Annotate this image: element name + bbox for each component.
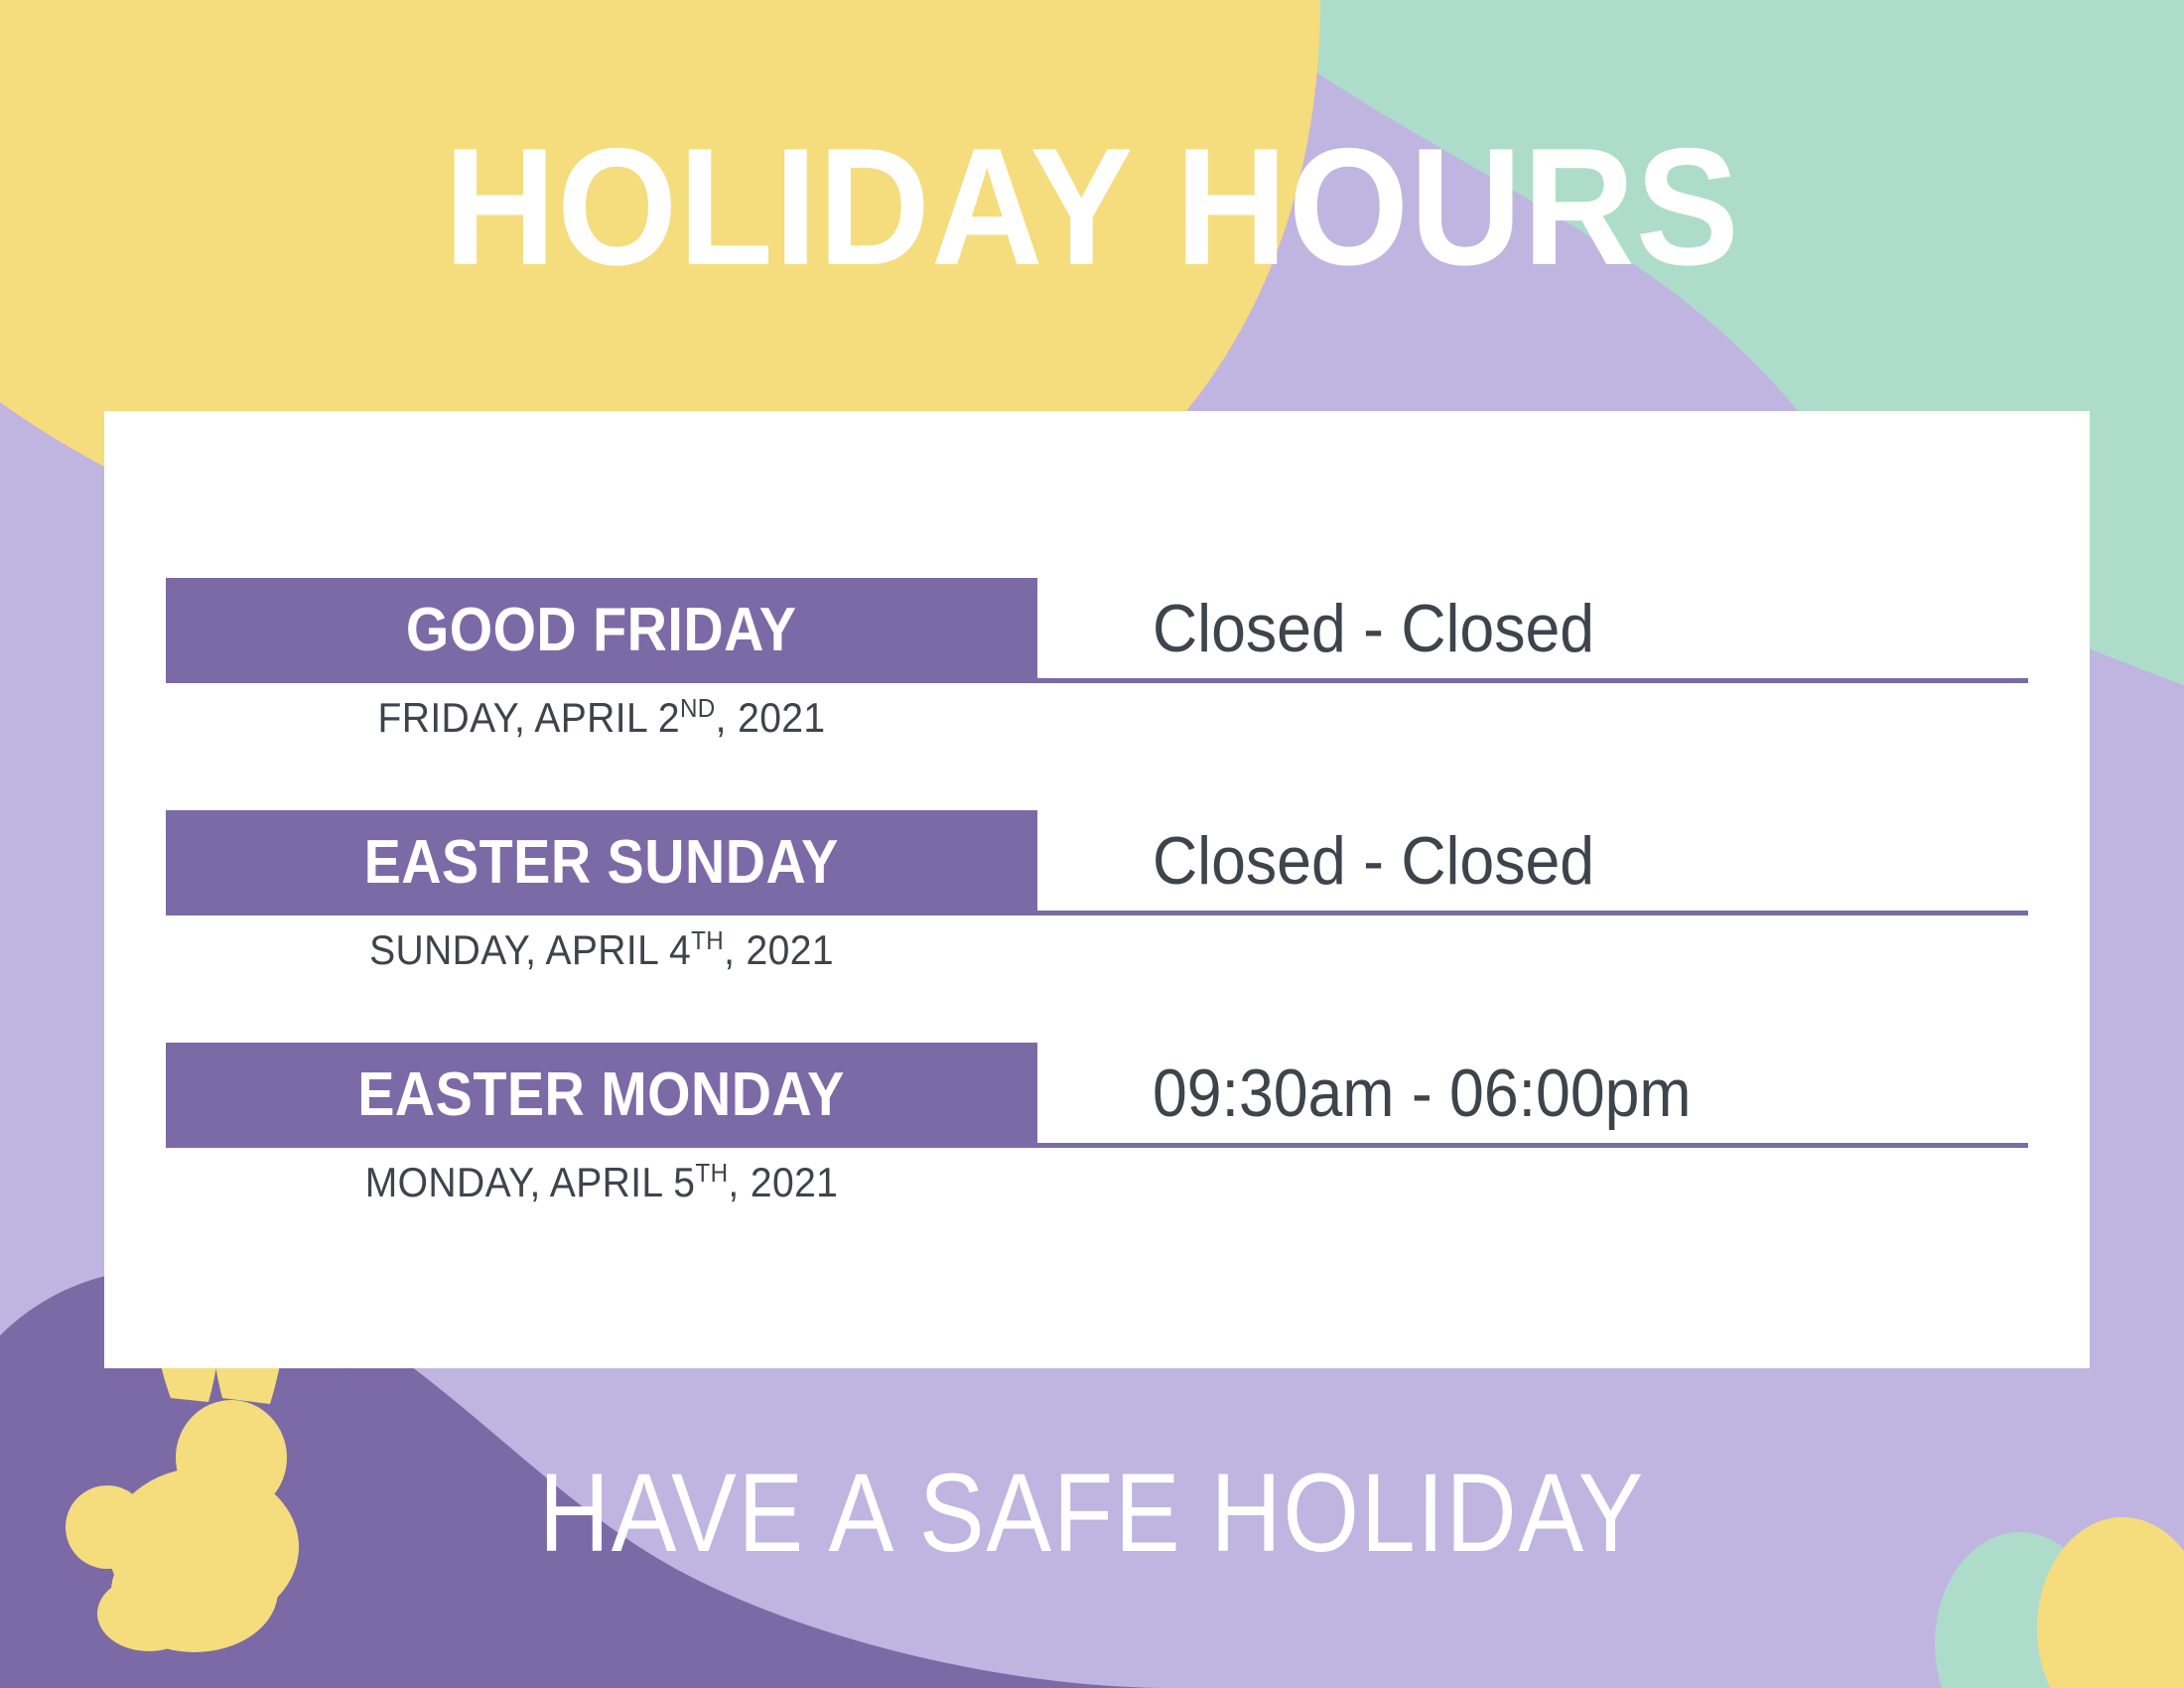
- hours-cell: Closed - Closed: [1037, 810, 2028, 915]
- hours-value: Closed - Closed: [1153, 595, 1594, 662]
- date-ordinal: ND: [680, 693, 716, 723]
- hours-value: Closed - Closed: [1153, 827, 1594, 895]
- date-prefix: SUNDAY, APRIL 4: [369, 926, 691, 973]
- date-ordinal: TH: [691, 925, 724, 955]
- holiday-name: EASTER MONDAY: [358, 1064, 846, 1126]
- date-prefix: MONDAY, APRIL 5: [365, 1159, 696, 1205]
- holiday-date: SUNDAY, APRIL 4TH, 2021: [197, 929, 1008, 971]
- schedule-card: GOOD FRIDAY Closed - Closed FRIDAY, APRI…: [104, 411, 2090, 1368]
- date-suffix: , 2021: [724, 926, 834, 973]
- schedule-row: EASTER SUNDAY Closed - Closed SUNDAY, AP…: [166, 806, 2028, 1039]
- hours-cell: 09:30am - 06:00pm: [1037, 1043, 2028, 1148]
- holiday-label-bar: GOOD FRIDAY: [166, 578, 1037, 683]
- schedule-row: GOOD FRIDAY Closed - Closed FRIDAY, APRI…: [166, 574, 2028, 806]
- holiday-name: EASTER SUNDAY: [364, 832, 839, 894]
- page-title: HOLIDAY HOURS: [76, 123, 2108, 290]
- date-suffix: , 2021: [716, 694, 826, 741]
- footer-message: HAVE A SAFE HOLIDAY: [131, 1458, 2053, 1569]
- poster-canvas: HOLIDAY HOURS GOOD FRIDAY Closed - Close…: [0, 0, 2184, 1688]
- holiday-date: MONDAY, APRIL 5TH, 2021: [197, 1162, 1008, 1203]
- schedule-row-top: GOOD FRIDAY Closed - Closed: [166, 574, 2028, 683]
- schedule-row-top: EASTER MONDAY 09:30am - 06:00pm: [166, 1039, 2028, 1148]
- holiday-name: GOOD FRIDAY: [406, 600, 797, 661]
- holiday-label-bar: EASTER SUNDAY: [166, 810, 1037, 915]
- date-prefix: FRIDAY, APRIL 2: [378, 694, 680, 741]
- date-suffix: , 2021: [728, 1159, 838, 1205]
- hours-cell: Closed - Closed: [1037, 578, 2028, 683]
- schedule-rows: GOOD FRIDAY Closed - Closed FRIDAY, APRI…: [166, 574, 2028, 1203]
- hours-value: 09:30am - 06:00pm: [1153, 1059, 1692, 1127]
- schedule-row-top: EASTER SUNDAY Closed - Closed: [166, 806, 2028, 915]
- schedule-row: EASTER MONDAY 09:30am - 06:00pm MONDAY, …: [166, 1039, 2028, 1203]
- holiday-date: FRIDAY, APRIL 2ND, 2021: [197, 697, 1008, 739]
- holiday-label-bar: EASTER MONDAY: [166, 1043, 1037, 1148]
- date-ordinal: TH: [695, 1158, 728, 1188]
